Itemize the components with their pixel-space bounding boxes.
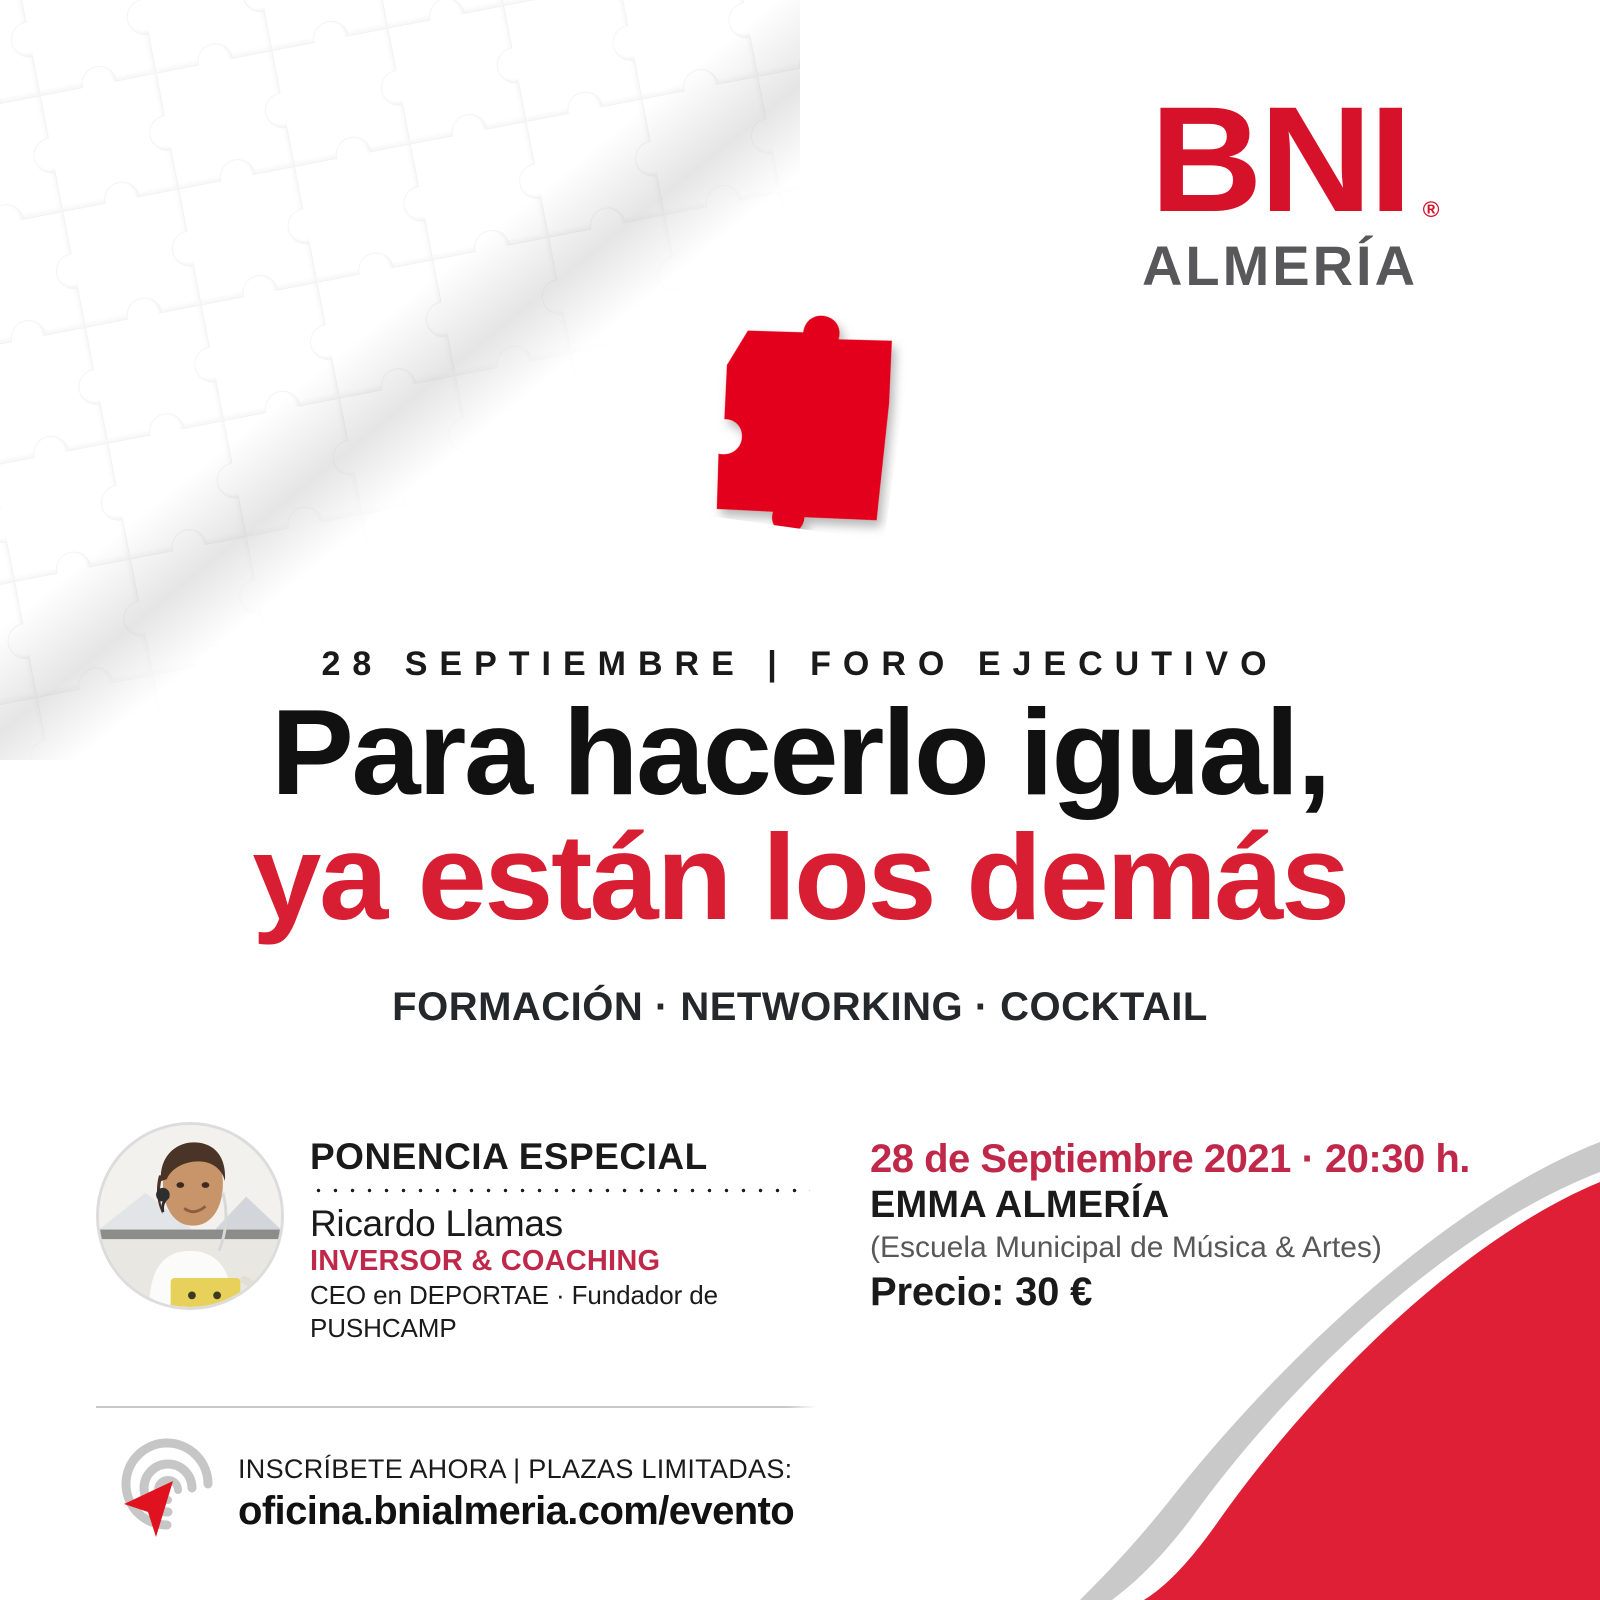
poster-canvas: BNI ® ALMERÍA 28 SEPTIEMBRE | FORO EJECU… (0, 0, 1600, 1600)
puzzle-tile (41, 74, 179, 212)
event-date-time: 28 de Septiembre 2021 · 20:30 h. (870, 1136, 1530, 1182)
registration-cta: INSCRÍBETE AHORA | PLAZAS LIMITADAS: (238, 1453, 794, 1487)
puzzle-tile (549, 215, 687, 353)
chapter-name: ALMERÍA (1070, 238, 1490, 294)
speaker-bio: CEO en DEPORTAE · Fundador de PUSHCAMP (310, 1279, 816, 1344)
puzzle-tile (388, 6, 526, 144)
event-details: 28 de Septiembre 2021 · 20:30 h. EMMA AL… (870, 1136, 1530, 1317)
speaker-section-label: PONENCIA ESPECIAL (310, 1138, 816, 1177)
headline-subline: FORMACIÓN · NETWORKING · COCKTAIL (0, 985, 1600, 1030)
red-puzzle-piece-icon (676, 298, 914, 540)
speaker-block: PONENCIA ESPECIAL Ricardo Llamas INVERSO… (96, 1122, 816, 1322)
speaker-text: PONENCIA ESPECIAL Ricardo Llamas INVERSO… (310, 1122, 816, 1344)
event-price: Precio: 30 € (870, 1267, 1530, 1317)
puzzle-tile (157, 51, 295, 189)
puzzle-tile (63, 190, 201, 328)
puzzle-tile (456, 354, 594, 492)
puzzle-tile (295, 144, 433, 282)
bni-logo: BNI ® ALMERÍA (1070, 90, 1490, 294)
puzzle-tile (527, 99, 665, 237)
event-venue: EMMA ALMERÍA (870, 1182, 1530, 1228)
bni-wordmark: BNI ® (1150, 90, 1409, 228)
registration-text: INSCRÍBETE AHORA | PLAZAS LIMITADAS: ofi… (238, 1453, 794, 1535)
puzzle-tile (433, 238, 571, 376)
cursor-spiral-icon (112, 1438, 220, 1550)
headline: Para hacerlo igual, ya están los demás (0, 692, 1600, 938)
puzzle-tile (202, 283, 340, 421)
headline-line-1: Para hacerlo igual, (0, 692, 1600, 813)
puzzle-tile (478, 469, 616, 607)
puzzle-tile (411, 122, 549, 260)
puzzle-tile (0, 444, 131, 582)
puzzle-tile (86, 305, 224, 443)
puzzle-tile (363, 492, 501, 630)
puzzle-tile (224, 399, 362, 537)
registration-url[interactable]: oficina.bnialmeria.com/evento (238, 1487, 794, 1535)
avatar (96, 1122, 284, 1310)
event-venue-detail: (Escuela Municipal de Música & Artes) (870, 1228, 1530, 1267)
registration-block[interactable]: INSCRÍBETE AHORA | PLAZAS LIMITADAS: ofi… (112, 1438, 794, 1550)
puzzle-tile (108, 421, 246, 559)
dotted-separator (310, 1188, 810, 1193)
speaker-name: Ricardo Llamas (310, 1203, 816, 1244)
puzzle-tile (340, 376, 478, 514)
headline-line-2: ya están los demás (0, 817, 1600, 938)
puzzle-tile (318, 260, 456, 398)
event-eyebrow: 28 SEPTIEMBRE | FORO EJECUTIVO (0, 645, 1600, 684)
section-divider (96, 1406, 816, 1408)
puzzle-tile (643, 77, 781, 215)
bni-wordmark-text: BNI (1150, 75, 1409, 243)
puzzle-tile (273, 29, 411, 167)
puzzle-tile (179, 167, 317, 305)
registered-mark: ® (1423, 200, 1437, 220)
speaker-role: INVERSOR & COACHING (310, 1244, 816, 1279)
puzzle-tile (247, 514, 385, 652)
speaker-photo (99, 1125, 281, 1307)
